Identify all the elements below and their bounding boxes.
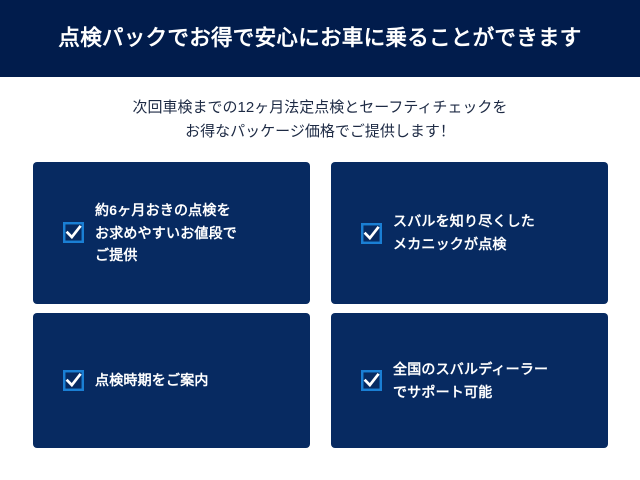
feature-card-label: 全国のスバルディーラー でサポート可能 <box>393 358 548 403</box>
subtitle-line-1: 次回車検までの12ヶ月法定点検とセーフティチェックを <box>133 96 508 120</box>
checkbox-checked-icon <box>361 223 382 244</box>
page-title: 点検パックでお得で安心にお車に乗ることができます <box>58 26 581 52</box>
card-content: スバルを知り尽くした メカニックが点検 <box>361 210 535 255</box>
subtitle-line-2: お得なパッケージ価格でご提供します！ <box>185 120 455 144</box>
card-content: 約6ヶ月おきの点検を お求めやすいお値段で ご提供 <box>63 199 237 267</box>
checkbox-checked-icon <box>63 370 84 391</box>
feature-card-2: スバルを知り尽くした メカニックが点検 <box>331 162 608 304</box>
feature-card-label: 点検時期をご案内 <box>95 369 209 392</box>
checkbox-checked-icon <box>361 370 382 391</box>
checkbox-checked-icon <box>63 222 84 243</box>
feature-card-3: 点検時期をご案内 <box>33 313 310 448</box>
card-content: 点検時期をご案内 <box>63 369 209 392</box>
card-content: 全国のスバルディーラー でサポート可能 <box>361 358 548 403</box>
feature-card-4: 全国のスバルディーラー でサポート可能 <box>331 313 608 448</box>
feature-card-label: スバルを知り尽くした メカニックが点検 <box>393 210 535 255</box>
promo-panel: 点検パックでお得で安心にお車に乗ることができます 次回車検までの12ヶ月法定点検… <box>0 0 640 480</box>
feature-card-grid: 約6ヶ月おきの点検を お求めやすいお値段で ご提供 スバルを知り尽くした メカニ… <box>33 162 608 448</box>
header-banner: 点検パックでお得で安心にお車に乗ることができます <box>0 0 640 77</box>
feature-card-label: 約6ヶ月おきの点検を お求めやすいお値段で ご提供 <box>95 199 237 267</box>
feature-card-1: 約6ヶ月おきの点検を お求めやすいお値段で ご提供 <box>33 162 310 304</box>
subtitle-block: 次回車検までの12ヶ月法定点検とセーフティチェックを お得なパッケージ価格でご提… <box>0 77 640 162</box>
